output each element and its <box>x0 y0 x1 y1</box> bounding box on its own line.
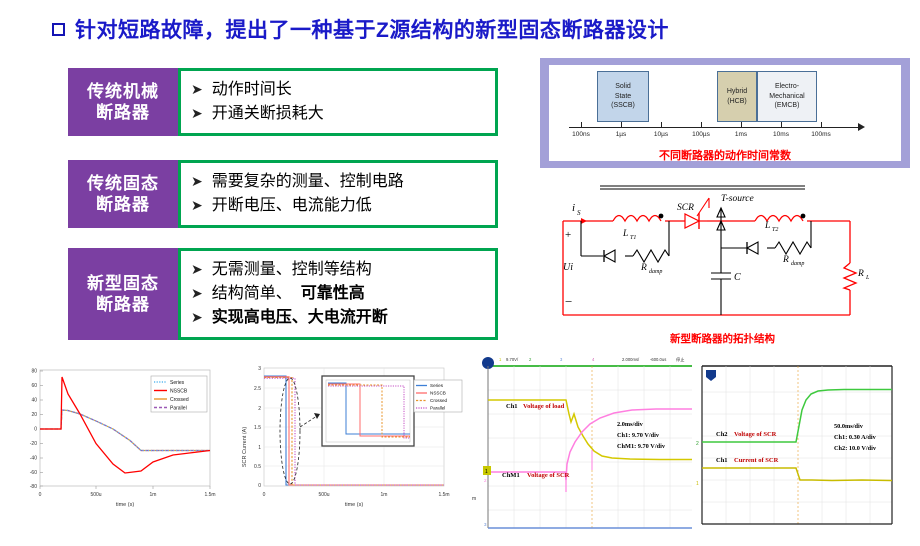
x-axis-label: time (s) <box>345 502 364 508</box>
box-line3: (SSCB) <box>611 101 635 110</box>
scope-delay: -600.0us <box>650 357 666 362</box>
y-tick-label: -40 <box>30 456 37 462</box>
label-minus: − <box>565 294 572 309</box>
axis-tick <box>781 122 782 127</box>
label-rdamp2: R <box>782 255 789 265</box>
diode-2-icon <box>747 242 758 254</box>
timing-constant-figure: Solid State (SSCB) Hybrid (HCB) Electro-… <box>540 58 910 168</box>
circuit-figure-caption: 新型断路器的拓扑结构 <box>525 331 920 346</box>
label-rdamp2-sub: damp <box>791 261 804 267</box>
ch1-rail-marker: 1 <box>696 481 699 487</box>
label-lt2-sub: T2 <box>772 227 778 233</box>
current-arrow-icon <box>581 218 587 224</box>
x-tick-label: 500u <box>90 492 101 498</box>
y-tick-label: 3 <box>258 366 261 372</box>
chart-legend: Series NSSCB Crossed Parallel <box>414 380 462 412</box>
timing-box-emcb: Electro- Mechanical (EMCB) <box>757 71 817 122</box>
scope-annotation-timebase: 50.0ms/div <box>834 423 864 430</box>
arrow-bullet-icon: ➤ <box>191 170 203 192</box>
timing-axis-arrow-icon <box>858 123 865 131</box>
x-tick-label: 1m <box>150 492 157 498</box>
x-tick-label: 500u <box>318 492 329 498</box>
card-body: ➤ 需要复杂的测量、控制电路 ➤ 开断电压、电流能力低 <box>178 160 498 228</box>
card-tag: 传统机械 断路器 <box>68 68 178 136</box>
y-tick-label: 40 <box>31 398 37 404</box>
legend-label: Crossed <box>430 398 448 403</box>
x-tick-label: 0 <box>39 492 42 498</box>
trace-label-ch1-text: Voltage of load <box>523 403 565 410</box>
axis-tick-label: 1µs <box>616 131 627 138</box>
fig4-svg: 2 1 Ch2 Voltage of SCR Ch1 Current of SC… <box>692 352 914 540</box>
page-title: 针对短路故障，提出了一种基于Z源结构的新型固态断路器设计 <box>52 14 669 44</box>
label-lt1-sub: T1 <box>630 235 636 241</box>
x-tick-label: 0 <box>263 492 266 498</box>
list-item: ➤ 开断电压、电流能力低 <box>191 194 487 218</box>
label-ui: Ui <box>563 262 573 273</box>
scope-status: 停止 <box>676 356 684 363</box>
scope-side-marker: m <box>472 496 476 502</box>
y-tick-label: 1 <box>258 445 261 451</box>
scope-annotation-ch2: Ch2: 10.0 V/div <box>834 445 877 452</box>
axis-tick-label: 100ns <box>572 131 590 138</box>
y-tick-label: 0.5 <box>254 464 261 470</box>
box-line2: (HCB) <box>727 97 746 106</box>
y-axis-label: SCR Current (A) <box>242 427 248 468</box>
slide-canvas: 针对短路故障，提出了一种基于Z源结构的新型固态断路器设计 传统机械 断路器 ➤ … <box>0 0 920 546</box>
x-tick-label: 1.5m <box>204 492 215 498</box>
axis-tick <box>661 122 662 127</box>
list-item: ➤ 需要复杂的测量、控制电路 <box>191 170 487 194</box>
y-tick-label: 20 <box>31 412 37 418</box>
axis-tick <box>701 122 702 127</box>
scope-timebase: 2.000ms/ <box>622 357 640 362</box>
trace-label-chm1-text: Voltage of SCR <box>527 472 570 479</box>
label-rdamp1-sub: damp <box>649 269 662 275</box>
axis-tick-label: 10µs <box>654 131 668 138</box>
trace-label-ch1-text: Current of SCR <box>734 457 779 464</box>
axis-tick <box>581 122 582 127</box>
y-tick-label: -60 <box>30 470 37 476</box>
arrow-bullet-icon: ➤ <box>191 306 203 328</box>
circuit-svg: i S + Ui − L T1 R damp SCR T-source C L … <box>525 178 920 346</box>
scope-capture-left: 1 9.70V/ 2 3 4 2.000ms/ -600.0us 停止 <box>470 352 692 540</box>
label-plus: + <box>565 229 571 241</box>
timing-box-hcb: Hybrid (HCB) <box>717 71 757 122</box>
list-item: ➤ 动作时间长 <box>191 78 487 102</box>
fig3-svg: 1 9.70V/ 2 3 4 2.000ms/ -600.0us 停止 <box>470 352 692 540</box>
card-tag-line2: 断路器 <box>96 294 150 315</box>
y-tick-label: 2.5 <box>254 386 261 392</box>
list-item-label: 实现高电压、大电流开断 <box>212 306 388 330</box>
arrow-bullet-icon: ➤ <box>191 258 203 280</box>
scope-annotation-ch1: Ch1: 0.30 A/div <box>834 434 877 441</box>
legend-label: Parallel <box>430 406 445 411</box>
label-tsource: T-source <box>721 194 754 204</box>
card-tag-line1: 传统机械 <box>87 81 159 102</box>
card-tag-line2: 断路器 <box>96 102 150 123</box>
legend-label: NSSCB <box>170 389 188 395</box>
box-line1: Solid <box>615 82 631 91</box>
scope-annotation-ch1: Ch1: 9.70 V/div <box>617 432 660 439</box>
chart-legend: Series NSSCB Crossed Parallel <box>151 376 207 412</box>
x-tick-label: 1m <box>381 492 388 498</box>
label-rdamp1: R <box>640 263 647 273</box>
legend-label: Crossed <box>170 397 189 403</box>
y-tick-label: -80 <box>30 484 37 490</box>
y-tick-label: 60 <box>31 383 37 389</box>
axis-tick <box>741 122 742 127</box>
box-line1: Hybrid <box>727 87 747 96</box>
load-resistor-icon <box>844 263 856 290</box>
y-tick-label: 0 <box>258 483 261 489</box>
card-tag: 新型固态 断路器 <box>68 248 178 340</box>
axis-tick-label: 100µs <box>692 131 710 138</box>
arrow-bullet-icon: ➤ <box>191 282 203 304</box>
arrow-bullet-icon: ➤ <box>191 194 203 216</box>
timing-figure-plot: Solid State (SSCB) Hybrid (HCB) Electro-… <box>549 65 901 161</box>
y-tick-label: 0 <box>34 427 37 433</box>
label-rload-sub: L <box>865 275 870 281</box>
y-tick-label: 2 <box>258 406 261 412</box>
list-item-label: 开通关断损耗大 <box>212 102 324 126</box>
title-text: 针对短路故障，提出了一种基于Z源结构的新型固态断路器设计 <box>75 14 669 44</box>
trace-label-chm1-channel: ChM1 <box>502 472 520 479</box>
arrow-bullet-icon: ➤ <box>191 78 203 100</box>
timing-box-sscb: Solid State (SSCB) <box>597 71 649 122</box>
legend-label: Parallel <box>170 406 187 412</box>
chart-transient-response: 80 60 40 20 0 -20 -40 -60 -80 <box>8 352 230 538</box>
list-item-label-plain: 结构简单、 <box>212 282 292 306</box>
card-traditional-solid-state: 传统固态 断路器 ➤ 需要复杂的测量、控制电路 ➤ 开断电压、电流能力低 <box>68 160 498 228</box>
trace-label-ch2-channel: Ch2 <box>716 431 728 438</box>
ch2-rail-marker: 2 <box>696 441 699 447</box>
chart-scr-current: 3 2.5 2 1.5 1 0.5 0 SCR Current (A) 0 50… <box>234 352 466 538</box>
chart-inset <box>322 376 414 446</box>
list-item-label: 需要复杂的测量、控制电路 <box>212 170 404 194</box>
scope-annotation-chm1: ChM1: 9.70 V/div <box>617 443 666 450</box>
circuit-topology-figure: i S + Ui − L T1 R damp SCR T-source C L … <box>525 178 920 346</box>
axis-tick-label: 10ms <box>773 131 789 138</box>
axis-tick-label: 1ms <box>735 131 747 138</box>
box-line2: Mechanical <box>769 92 804 101</box>
list-item-label: 开断电压、电流能力低 <box>212 194 372 218</box>
label-current-sub: S <box>577 209 581 217</box>
card-new-solid-state: 新型固态 断路器 ➤ 无需测量、控制等结构 ➤ 结构简单、可靠性高 ➤ 实现高电… <box>68 248 498 340</box>
label-scr: SCR <box>677 203 694 213</box>
y-tick-label: 80 <box>31 369 37 375</box>
axis-tick-label: 100ms <box>811 131 831 138</box>
fig1-svg: 80 60 40 20 0 -20 -40 -60 -80 <box>8 352 230 538</box>
legend-label: Series <box>170 380 185 386</box>
card-tag-line2: 断路器 <box>96 194 150 215</box>
diode-1-icon <box>604 250 615 262</box>
scope-annotation-timebase: 2.0ms/div <box>617 421 644 428</box>
timing-figure-caption: 不同断路器的动作时间常数 <box>549 147 901 163</box>
list-item: ➤ 结构简单、可靠性高 <box>191 282 487 306</box>
trace-label-ch1-channel: Ch1 <box>716 457 728 464</box>
timing-axis-line <box>569 127 859 128</box>
card-tag-line1: 传统固态 <box>87 173 159 194</box>
card-tag-line1: 新型固态 <box>87 273 159 294</box>
list-item: ➤ 开通关断损耗大 <box>191 102 487 126</box>
label-cap: C <box>734 272 741 283</box>
x-axis-label: time (s) <box>116 502 135 508</box>
scope-capture-right: 2 1 Ch2 Voltage of SCR Ch1 Current of SC… <box>692 352 914 540</box>
list-item: ➤ 实现高电压、大电流开断 <box>191 306 487 330</box>
axis-tick <box>821 122 822 127</box>
x-tick-label: 1.5m <box>438 492 449 498</box>
box-line2: State <box>615 92 631 101</box>
trace-label-ch1-channel: Ch1 <box>506 403 518 410</box>
list-item: ➤ 无需测量、控制等结构 <box>191 258 487 282</box>
arrow-bullet-icon: ➤ <box>191 102 203 124</box>
scope-ch1-scale: 9.70V/ <box>506 357 519 362</box>
svg-text:1: 1 <box>485 469 488 475</box>
card-tag: 传统固态 断路器 <box>68 160 178 228</box>
title-bullet-icon <box>52 23 65 36</box>
list-item-label: 无需测量、控制等结构 <box>212 258 372 282</box>
list-item-label-bold: 可靠性高 <box>301 282 365 306</box>
label-lt1: L <box>622 229 628 239</box>
box-line1: Electro- <box>775 82 799 91</box>
legend-label: NSSCB <box>430 391 446 396</box>
list-item-label: 动作时间长 <box>212 78 292 102</box>
y-tick-label: 1.5 <box>254 425 261 431</box>
trace-label-ch2-text: Voltage of SCR <box>734 431 777 438</box>
card-traditional-mechanical: 传统机械 断路器 ➤ 动作时间长 ➤ 开通关断损耗大 <box>68 68 498 136</box>
y-tick-label: -20 <box>30 441 37 447</box>
card-body: ➤ 无需测量、控制等结构 ➤ 结构简单、可靠性高 ➤ 实现高电压、大电流开断 <box>178 248 498 340</box>
axis-tick <box>621 122 622 127</box>
card-body: ➤ 动作时间长 ➤ 开通关断损耗大 <box>178 68 498 136</box>
label-lt2: L <box>764 221 770 231</box>
label-rload: R <box>857 269 864 279</box>
label-current: i <box>572 202 575 214</box>
legend-label: Series <box>430 383 444 388</box>
fig2-svg: 3 2.5 2 1.5 1 0.5 0 SCR Current (A) 0 50… <box>234 352 466 538</box>
box-line3: (EMCB) <box>775 101 800 110</box>
